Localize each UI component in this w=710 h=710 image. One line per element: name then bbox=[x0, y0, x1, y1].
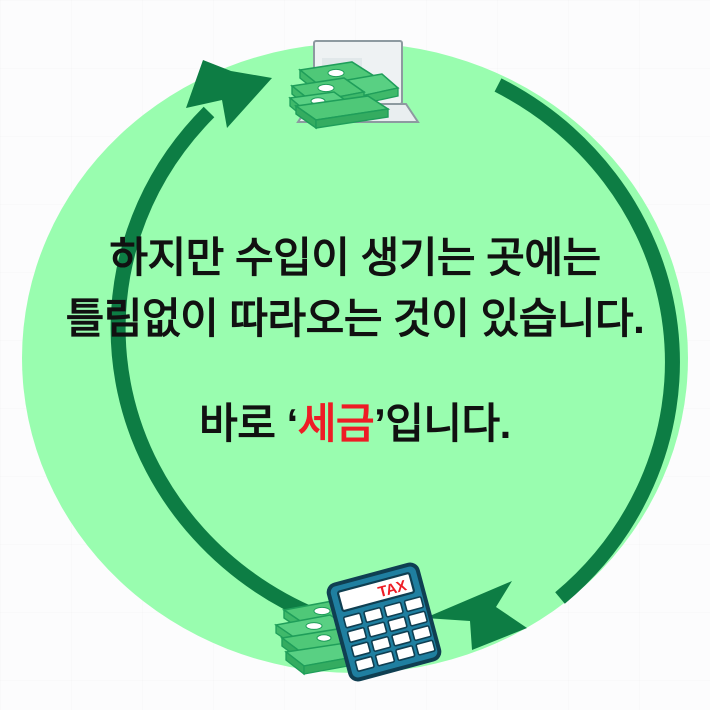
cycle-diagram: TAX bbox=[0, 0, 710, 710]
infographic-canvas: TAX bbox=[0, 0, 710, 710]
